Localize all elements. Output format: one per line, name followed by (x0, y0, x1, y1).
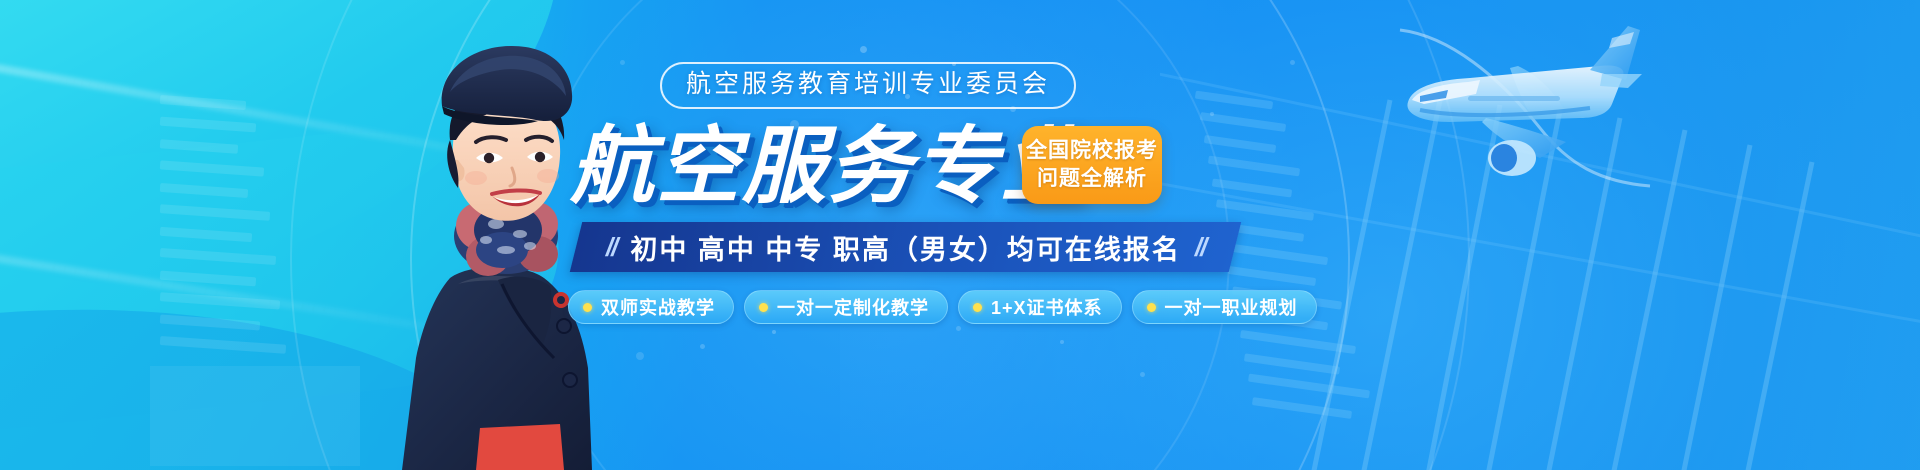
bullet-dot-icon (1147, 303, 1156, 312)
feature-pill-label: 双师实战教学 (601, 294, 715, 320)
slash-left-icon: // (606, 232, 616, 263)
bullet-dot-icon (583, 303, 592, 312)
feature-pill-label: 一对一定制化教学 (777, 294, 929, 320)
highlight-badge[interactable]: 全国院校报考 问题全解析 (1022, 126, 1162, 204)
page-title: 航空服务专业 (570, 124, 1086, 208)
airline-service-major-banner: 航空服务教育培训专业委员会 航空服务专业 全国院校报考 问题全解析 // 初中 … (0, 0, 1920, 470)
eligibility-banner: // 初中 高中 中专 职高（男女）均可在线报名 // (570, 222, 1242, 272)
feature-pill[interactable]: 一对一定制化教学 (744, 290, 948, 324)
eligibility-text: 初中 高中 中专 职高（男女）均可在线报名 (630, 228, 1181, 267)
feature-pill-label: 一对一职业规划 (1165, 294, 1298, 320)
bullet-dot-icon (759, 303, 768, 312)
highlight-badge-line1: 全国院校报考 (1026, 139, 1158, 163)
feature-pill[interactable]: 一对一职业规划 (1132, 290, 1317, 324)
feature-pill[interactable]: 1+X证书体系 (958, 290, 1122, 324)
highlight-badge-line2: 问题全解析 (1037, 167, 1147, 191)
airplane-icon (1390, 18, 1720, 218)
banner-content: 航空服务教育培训专业委员会 航空服务专业 全国院校报考 问题全解析 // 初中 … (560, 0, 1360, 470)
feature-pill-list: 双师实战教学 一对一定制化教学 1+X证书体系 一对一职业规划 (568, 290, 1317, 324)
feature-pill-label: 1+X证书体系 (991, 294, 1103, 320)
bullet-dot-icon (973, 303, 982, 312)
feature-pill[interactable]: 双师实战教学 (568, 290, 734, 324)
committee-badge: 航空服务教育培训专业委员会 (660, 62, 1076, 109)
slash-right-icon: // (1195, 232, 1205, 263)
